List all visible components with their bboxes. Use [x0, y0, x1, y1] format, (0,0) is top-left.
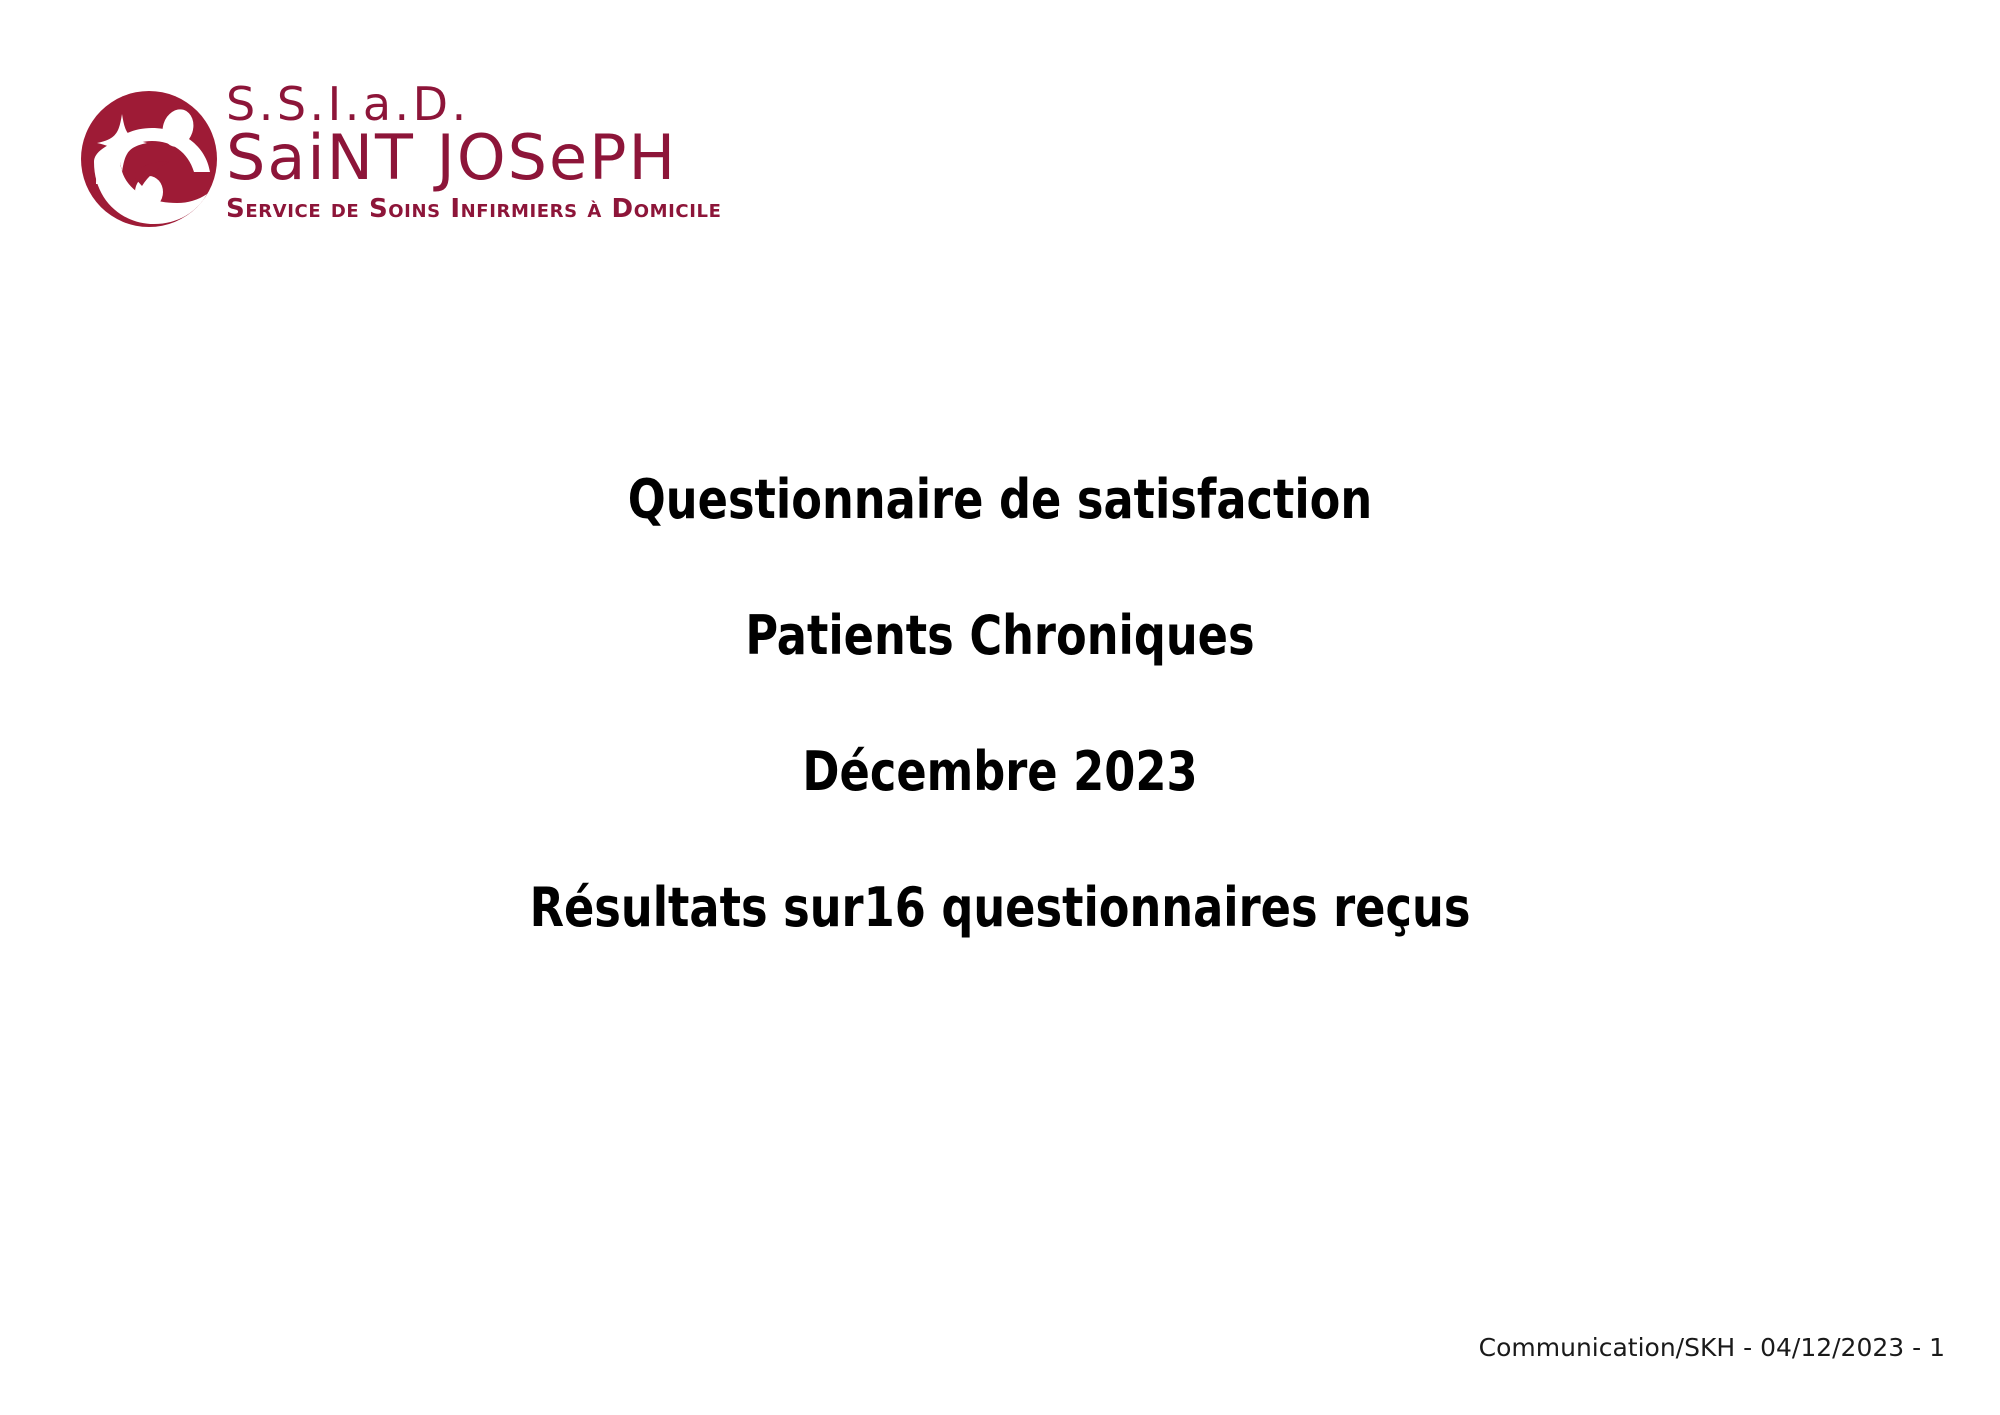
slide-title-block: Questionnaire de satisfaction Patients C…	[0, 470, 2000, 938]
slide-footer: Communication/SKH - 04/12/2023 - 1	[1479, 1333, 1945, 1363]
logo-organisation-name: SaiNT JOSePH	[226, 126, 766, 190]
logo-tagline: Service de Soins Infirmiers à Domicile	[226, 194, 766, 224]
ssiad-caregiver-circle-logo-icon	[78, 88, 220, 230]
slide-canvas: S.S.I.a.D. SaiNT JOSePH Service de Soins…	[0, 0, 2000, 1415]
organisation-logo: S.S.I.a.D. SaiNT JOSePH Service de Soins…	[78, 78, 778, 248]
logo-wordmark: S.S.I.a.D. SaiNT JOSePH Service de Soins…	[226, 78, 766, 224]
title-line-results-count: Résultats sur16 questionnaires reçus	[80, 878, 1920, 938]
title-line-questionnaire: Questionnaire de satisfaction	[80, 470, 1920, 530]
title-line-patient-type: Patients Chroniques	[80, 606, 1920, 666]
title-line-period: Décembre 2023	[80, 742, 1920, 802]
